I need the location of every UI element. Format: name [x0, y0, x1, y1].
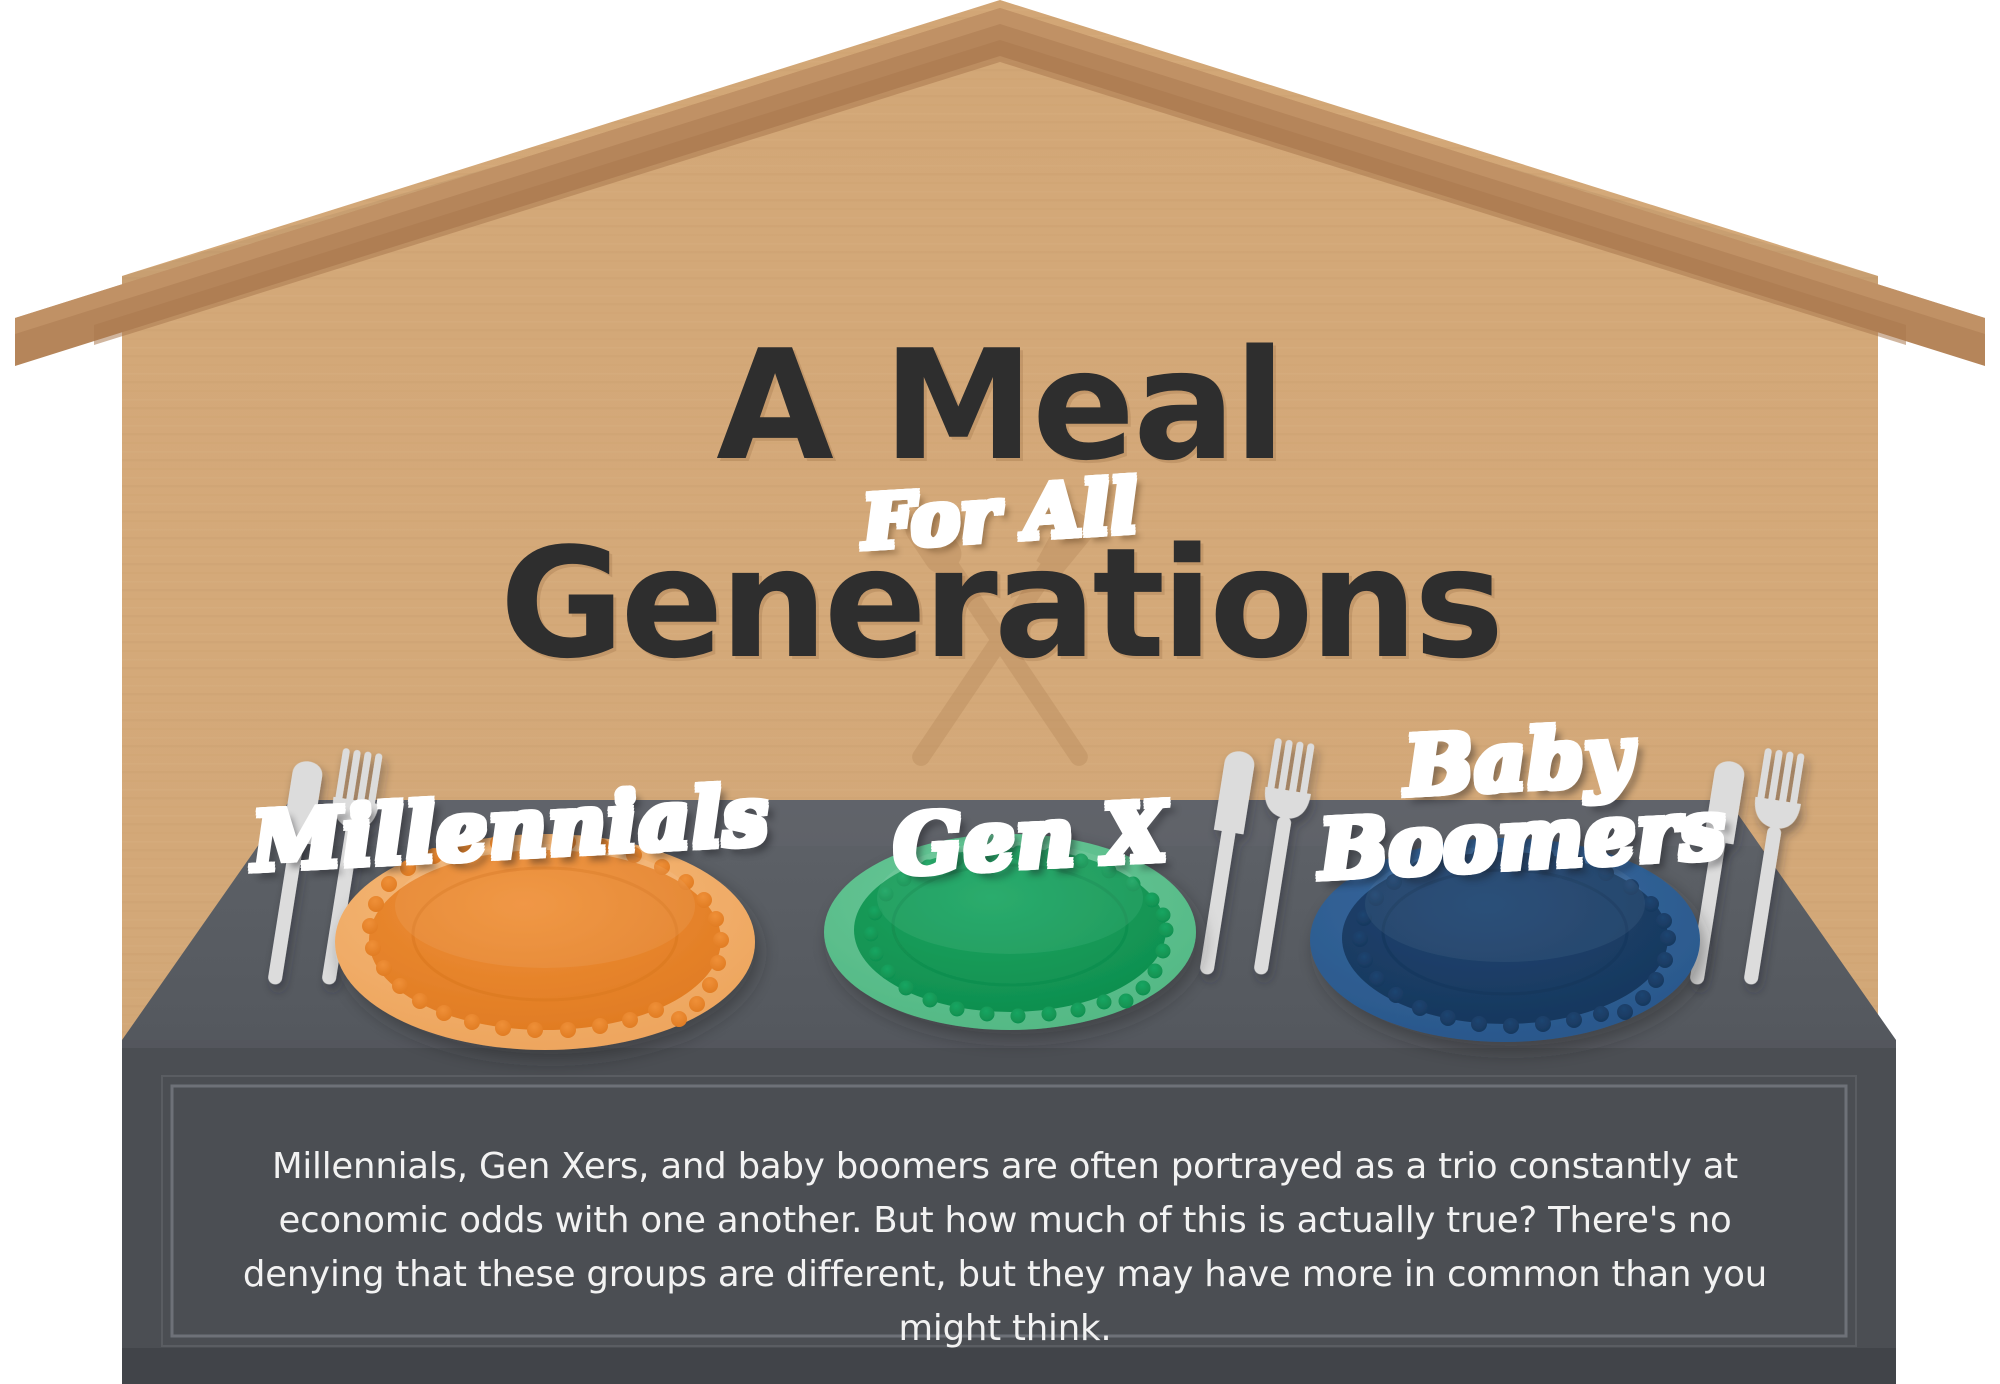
infographic-poster: A Meal Generations For All Millennials G…	[0, 0, 2000, 1384]
plate-label-baby-boomers-line2: Boomers	[1310, 790, 1734, 891]
body-paragraph: Millennials, Gen Xers, and baby boomers …	[210, 1140, 1800, 1356]
plate-label-baby-boomers: BabyBoomers	[1306, 711, 1734, 890]
